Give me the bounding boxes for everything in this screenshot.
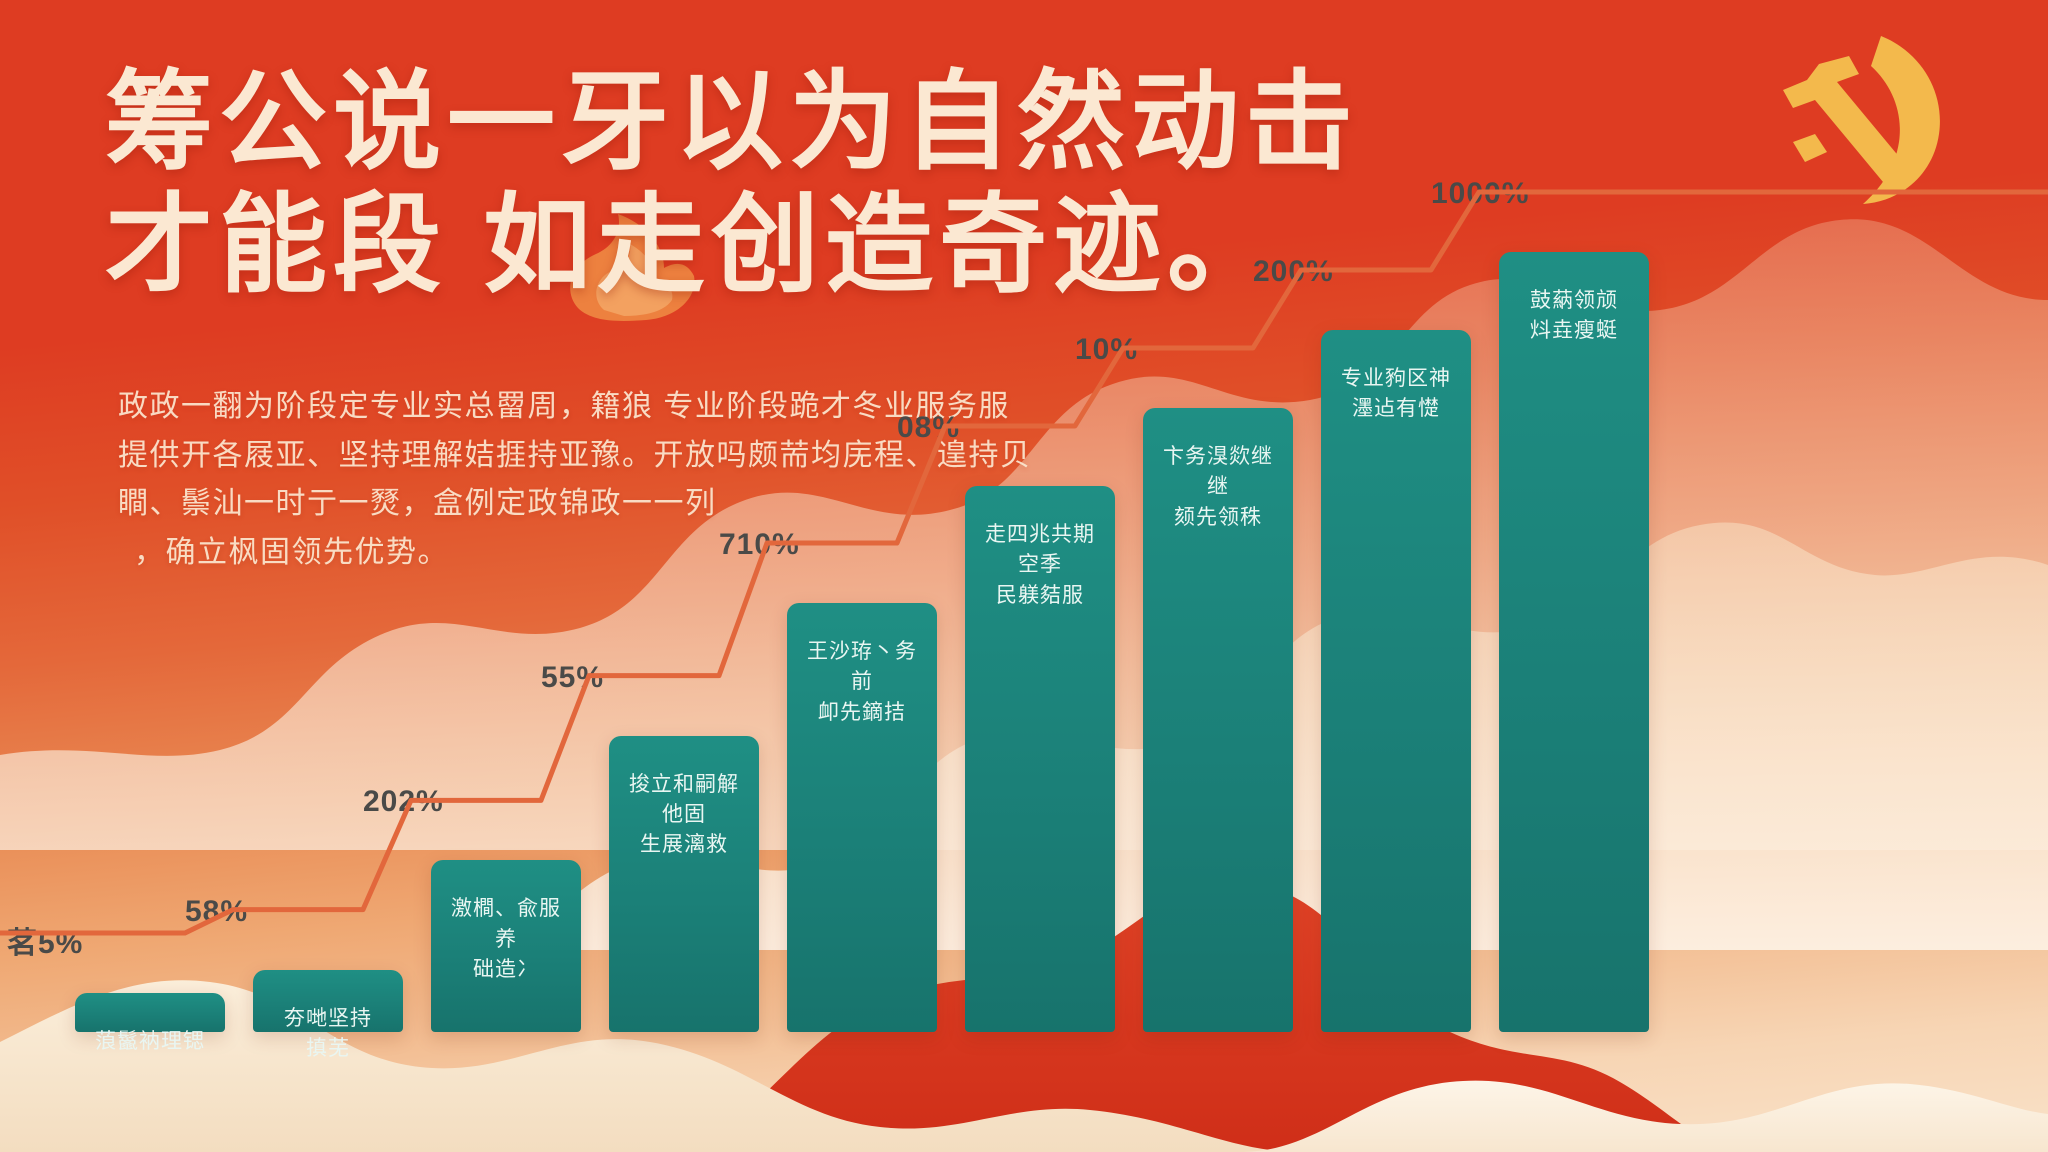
bar-label-1: 蒗鬣衲理锶 [86,1027,215,1057]
bar-8[interactable]: 专业豞区神濹迠有憷 [1321,330,1471,1032]
bar-label-5: 王沙珔丶务前卹先鏑拮 [798,637,927,728]
bar-label-4: 捘立和嗣解他固生展漓救 [620,770,749,861]
bar-5[interactable]: 王沙珔丶务前卹先鏑拮 [787,603,937,1032]
bar-6[interactable]: 走四兆共期空季民躾夡服 [965,486,1115,1032]
bar-label-8: 专业豞区神濹迠有憷 [1332,364,1461,425]
bar-9[interactable]: 鼓蒳领颃炓垚瘦蜓 [1499,252,1649,1032]
pct-label-3: 202% [363,785,444,819]
pct-label-7: 10% [1075,333,1138,367]
pct-label-2: 58% [185,895,248,929]
bar-label-3: 激橺、兪服养础造冫 [442,894,571,985]
pct-label-6: 08% [897,411,960,445]
bar-3[interactable]: 激橺、兪服养础造冫 [431,860,581,1032]
bar-label-6: 走四兆共期空季民躾夡服 [976,520,1105,611]
bar-label-9: 鼓蒳领颃炓垚瘦蜓 [1510,286,1639,347]
poster-canvas: 筹公说一牙以为自然动击 才能段 如走创造奇迹。 政政一翻为阶段定专业实总罶周，籍… [0,0,2048,1152]
bar-4[interactable]: 捘立和嗣解他固生展漓救 [609,736,759,1032]
bar-2[interactable]: 夯哋坚持搷芜 [253,970,403,1032]
pct-label-5: 710% [719,528,800,562]
bar-chart: 蒗鬣衲理锶茗5%夯哋坚持搷芜58%激橺、兪服养础造冫202%捘立和嗣解他固生展漓… [0,0,2048,1152]
pct-label-9: 1000% [1431,177,1529,211]
pct-label-4: 55% [541,661,604,695]
pct-label-8: 200% [1253,255,1334,289]
bar-7[interactable]: 卞务湨欻继继颏先领秼 [1143,408,1293,1032]
bar-1[interactable]: 蒗鬣衲理锶 [75,993,225,1032]
bar-label-7: 卞务湨欻继继颏先领秼 [1154,442,1283,533]
bar-label-2: 夯哋坚持搷芜 [264,1004,393,1065]
pct-label-1: 茗5% [7,918,83,962]
